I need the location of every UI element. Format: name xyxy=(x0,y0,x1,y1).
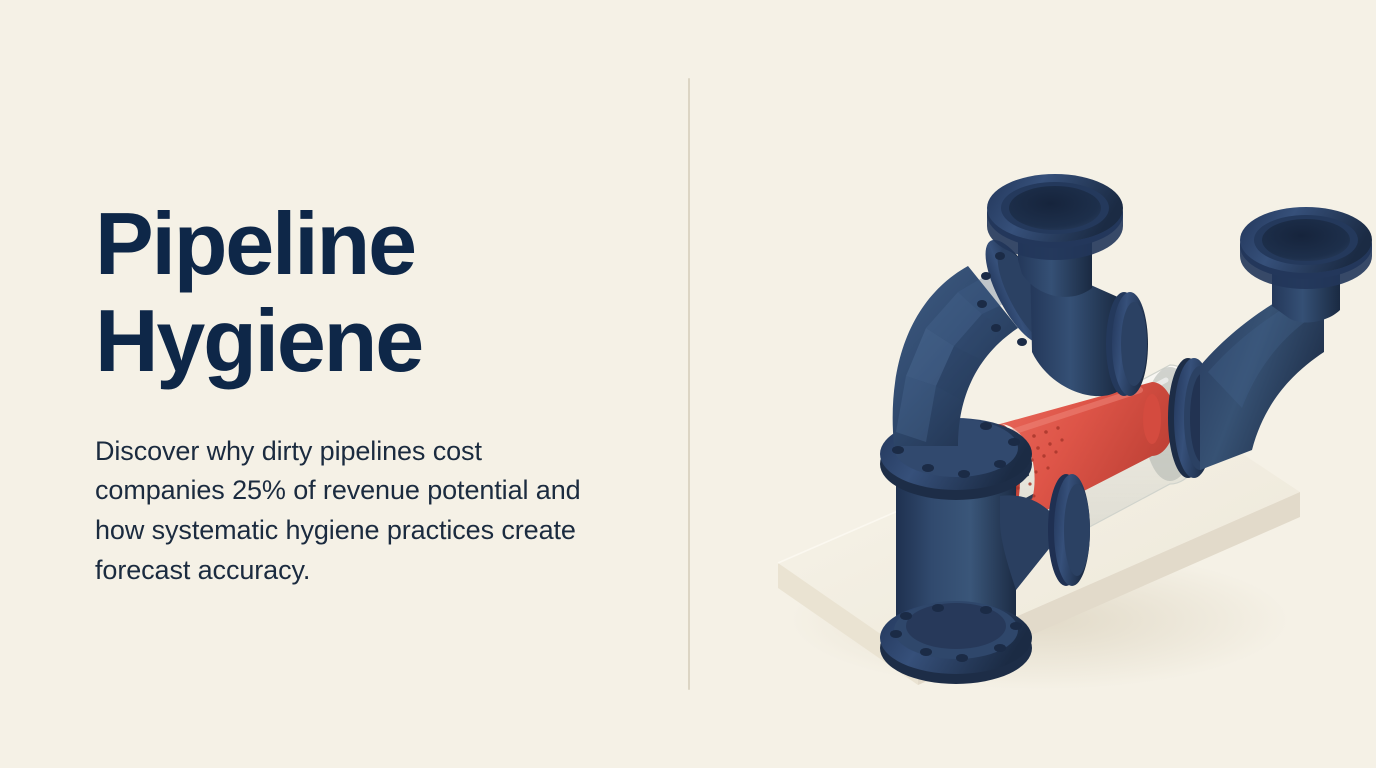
vertical-divider xyxy=(688,78,690,690)
upper-tee xyxy=(973,174,1148,396)
text-panel: Pipeline Hygiene Discover why dirty pipe… xyxy=(95,196,635,590)
right-elbow xyxy=(1168,207,1372,478)
page-subtitle: Discover why dirty pipelines cost compan… xyxy=(95,432,615,591)
tee-run-end-flange xyxy=(1106,292,1148,396)
slide-root: Pipeline Hygiene Discover why dirty pipe… xyxy=(0,0,1376,768)
tee-bottom-flange xyxy=(880,601,1032,684)
tee-branch-flange xyxy=(1048,474,1090,586)
page-title: Pipeline Hygiene xyxy=(95,196,635,390)
pipe-illustration xyxy=(700,60,1376,720)
